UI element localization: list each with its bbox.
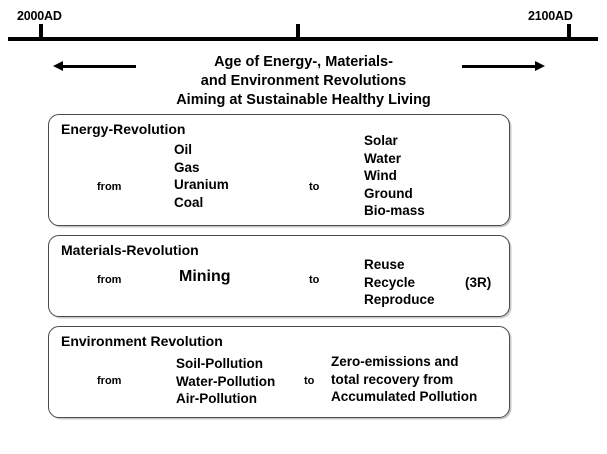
environment-target-list: Zero-emissions and total recovery from A… xyxy=(331,353,477,406)
materials-source-list: Mining xyxy=(179,268,231,286)
environment-revolution-box: Environment Revolution from Soil-Polluti… xyxy=(48,326,510,418)
environment-to-label: to xyxy=(304,375,314,387)
materials-target-item: Reproduce xyxy=(364,291,435,309)
timeline-tick-middle xyxy=(296,24,300,38)
energy-source-list: Oil Gas Uranium Coal xyxy=(174,141,229,211)
environment-source-item: Water-Pollution xyxy=(176,373,275,391)
materials-source-item: Mining xyxy=(179,268,231,286)
energy-target-item: Water xyxy=(364,150,425,168)
energy-target-item: Solar xyxy=(364,132,425,150)
heading-line-1: Age of Energy-, Materials- xyxy=(0,53,607,72)
environment-source-item: Soil-Pollution xyxy=(176,355,275,373)
energy-target-item: Bio-mass xyxy=(364,202,425,220)
materials-target-item: Reuse xyxy=(364,256,435,274)
environment-revolution-title: Environment Revolution xyxy=(61,333,223,349)
energy-source-item: Uranium xyxy=(174,176,229,194)
environment-from-label: from xyxy=(97,375,121,387)
timeline-tick-start xyxy=(39,24,43,38)
energy-target-item: Wind xyxy=(364,167,425,185)
materials-from-label: from xyxy=(97,274,121,286)
materials-target-annotation: (3R) xyxy=(465,274,491,292)
energy-from-label: from xyxy=(97,181,121,193)
heading-line-3: Aiming at Sustainable Healthy Living xyxy=(0,91,607,110)
energy-revolution-title: Energy-Revolution xyxy=(61,121,185,137)
environment-target-item: Accumulated Pollution xyxy=(331,388,477,406)
energy-source-item: Gas xyxy=(174,159,229,177)
materials-target-item: Recycle xyxy=(364,274,435,292)
environment-source-item: Air-Pollution xyxy=(176,390,275,408)
energy-to-label: to xyxy=(309,181,319,193)
materials-to-label: to xyxy=(309,274,319,286)
diagram-canvas: 2000AD 2100AD Age of Energy-, Materials-… xyxy=(0,0,607,454)
energy-target-item: Ground xyxy=(364,185,425,203)
materials-revolution-box: Materials-Revolution from Mining to Reus… xyxy=(48,235,510,317)
energy-target-list: Solar Water Wind Ground Bio-mass xyxy=(364,132,425,220)
heading-line-2: and Environment Revolutions xyxy=(0,72,607,91)
materials-revolution-title: Materials-Revolution xyxy=(61,242,199,258)
diagram-heading: Age of Energy-, Materials- and Environme… xyxy=(0,53,607,110)
environment-target-item: total recovery from xyxy=(331,371,477,389)
timeline-start-label: 2000AD xyxy=(17,9,62,23)
environment-target-item: Zero-emissions and xyxy=(331,353,477,371)
timeline-axis xyxy=(8,37,598,41)
timeline-end-label: 2100AD xyxy=(528,9,573,23)
energy-source-item: Oil xyxy=(174,141,229,159)
materials-target-list: Reuse Recycle Reproduce (3R) xyxy=(364,256,435,309)
energy-revolution-box: Energy-Revolution from Oil Gas Uranium C… xyxy=(48,114,510,226)
timeline-tick-end xyxy=(567,24,571,38)
environment-source-list: Soil-Pollution Water-Pollution Air-Pollu… xyxy=(176,355,275,408)
energy-source-item: Coal xyxy=(174,194,229,212)
